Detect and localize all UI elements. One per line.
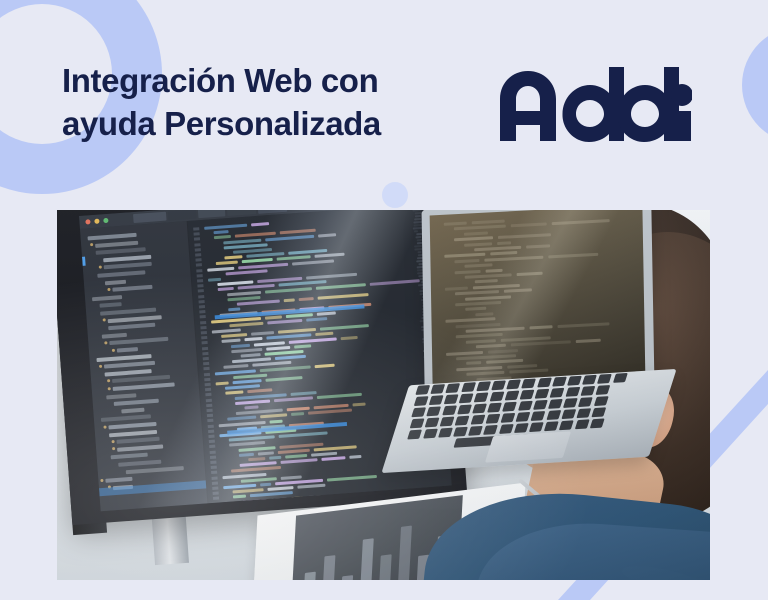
headline-line-1: Integración Web con — [62, 60, 381, 103]
headline-line-2: ayuda Personalizada — [62, 103, 381, 146]
banner-header: Integración Web con ayuda Personalizada — [0, 0, 768, 205]
promo-banner: Integración Web con ayuda Personalizada — [0, 0, 768, 600]
addi-logo — [496, 67, 692, 143]
photo-color-grade — [57, 210, 710, 580]
hero-photo — [57, 210, 710, 580]
page-title: Integración Web con ayuda Personalizada — [62, 60, 381, 146]
